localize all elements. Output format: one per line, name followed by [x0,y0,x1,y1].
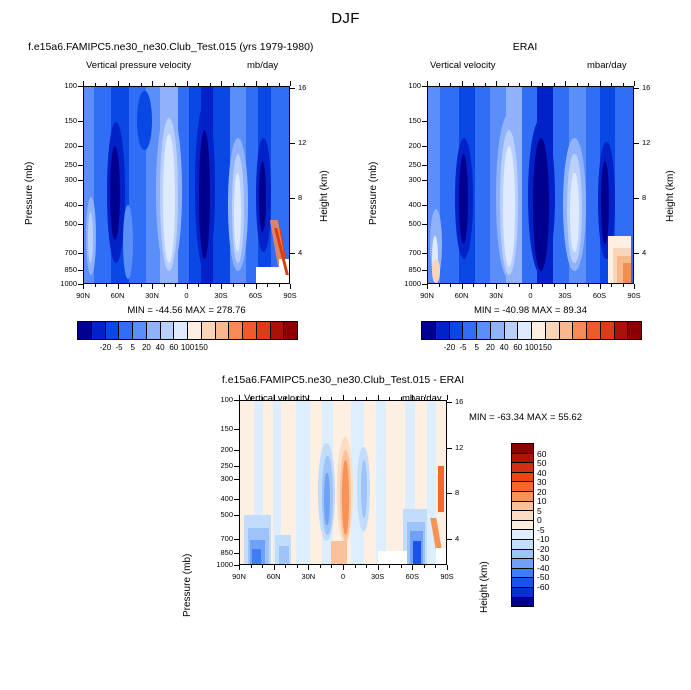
colorbar-label: -20 [537,544,549,554]
colorbar-label: 40 [537,468,546,478]
colorbar-label: 10 [537,496,546,506]
colorbar-label: 60 [537,449,546,459]
panel-top-right: ERAI Vertical velocity mbar/day Pressure… [345,0,691,360]
colorbar-top-left-labels: -20-55204060100150 [0,0,340,360]
colorbar-label: -40 [537,563,549,573]
panel-difference: f.e15a6.FAMIPC5.ne30_ne30.Club_Test.015 … [0,360,691,690]
colorbar-difference-labels: 60504030201050-5-10-20-30-40-50-60 [0,360,691,690]
colorbar-label: -30 [537,553,549,563]
colorbar-label: 150 [531,343,559,352]
panel-top-left: f.e15a6.FAMIPC5.ne30_ne30.Club_Test.015 … [0,0,340,360]
colorbar-label: 0 [537,515,542,525]
colorbar-label: 150 [187,343,215,352]
colorbar-top-right-labels: -20-55204060100150 [345,0,691,360]
colorbar-label: -5 [537,525,545,535]
colorbar-label: -60 [537,582,549,592]
colorbar-label: 50 [537,458,546,468]
colorbar-label: -50 [537,572,549,582]
colorbar-label: 30 [537,477,546,487]
colorbar-label: -10 [537,534,549,544]
colorbar-label: 20 [537,487,546,497]
colorbar-label: 5 [537,506,542,516]
